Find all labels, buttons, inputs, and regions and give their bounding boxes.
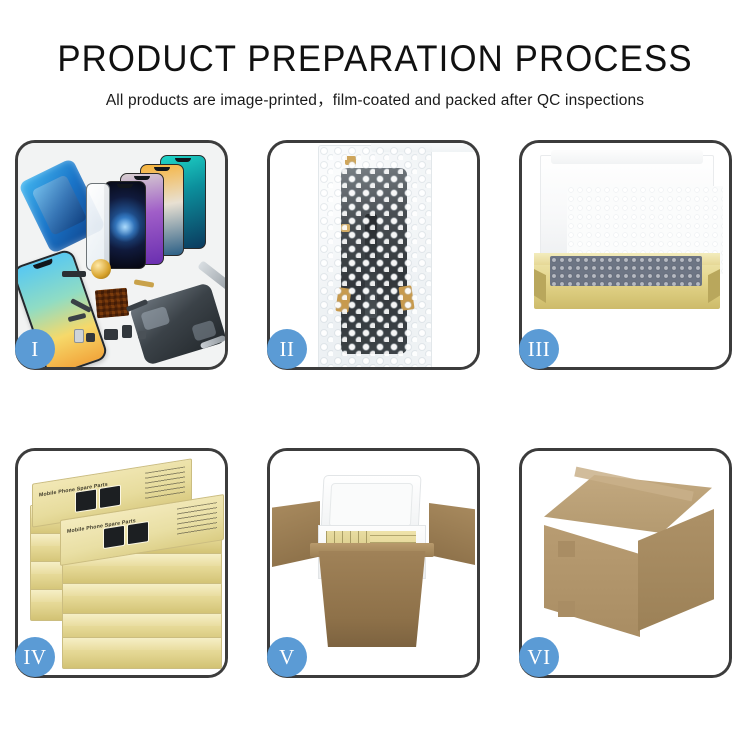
box-window-icon (99, 485, 121, 509)
box-label-text: Mobile Phone Spare Parts (39, 482, 108, 499)
step-image-2 (270, 143, 477, 367)
box-window-icon (127, 521, 149, 545)
carton-tab-icon (558, 601, 575, 617)
notch-icon (154, 167, 170, 171)
product-preparation-infographic: PRODUCT PREPARATION PROCESS All products… (0, 0, 750, 750)
page-title: PRODUCT PREPARATION PROCESS (23, 38, 728, 80)
screen-protector-icon (86, 183, 110, 271)
step-panel-2: II (267, 140, 480, 370)
step-image-5 (270, 451, 477, 675)
yellow-box-tray-icon (534, 261, 720, 309)
step-badge-3: III (519, 329, 559, 369)
step-badge-6: VI (519, 637, 559, 677)
bubble-texture-icon (319, 146, 431, 367)
box-lid-edge-icon (63, 614, 221, 626)
small-part-icon (104, 329, 118, 340)
step-panel-1: I (15, 140, 228, 370)
wallpaper-swirl-icon (110, 212, 140, 242)
box-side-left-icon (534, 269, 546, 303)
notch-icon (175, 158, 191, 162)
step-image-4: Mobile Phone Spare Parts Mobile Phone Sp… (18, 451, 225, 675)
box-spec-lines-icon (177, 502, 217, 536)
phone-lineup-graphic (100, 155, 225, 267)
carton-flap-right-icon (429, 503, 475, 565)
process-steps-grid: I II (15, 140, 735, 678)
bubble-packed-contents-icon (550, 256, 702, 286)
step-panel-5: V (267, 448, 480, 678)
step-badge-2: II (267, 329, 307, 369)
notch-icon (117, 184, 133, 188)
step-panel-6: VI (519, 448, 732, 678)
box-window-icon (103, 525, 125, 549)
step-badge-5: V (267, 637, 307, 677)
box-lid-edge-icon (63, 584, 221, 596)
step-image-3 (522, 143, 729, 367)
small-part-icon (138, 331, 146, 339)
step-image-1 (18, 143, 225, 367)
chip-grid-icon (95, 288, 129, 319)
notch-icon (134, 176, 150, 180)
page-subtitle: All products are image-printed，film-coat… (0, 91, 750, 111)
box-spec-lines-icon (145, 466, 185, 500)
box-stack-graphic: Mobile Phone Spare Parts Mobile Phone Sp… (30, 465, 220, 667)
earpiece-speaker-icon (62, 271, 86, 277)
step-panel-4: Mobile Phone Spare Parts Mobile Phone Sp… (15, 448, 228, 678)
step-badge-1: I (15, 329, 55, 369)
box-label-text: Mobile Phone Spare Parts (67, 518, 136, 535)
step-panel-3: III (519, 140, 732, 370)
notch-icon (33, 259, 54, 270)
box-side-right-icon (708, 269, 720, 303)
step-image-6 (522, 451, 729, 675)
stacked-box (62, 637, 222, 669)
vibration-motor-icon (91, 259, 111, 279)
sim-tray-icon (74, 329, 84, 343)
carton-tab-icon (558, 541, 575, 557)
step-badge-4: IV (15, 637, 55, 677)
stacked-box (62, 583, 222, 615)
small-part-icon (122, 325, 132, 338)
box-lid-icon (540, 155, 714, 269)
box-lid-edge-icon (63, 638, 221, 650)
box-window-icon (75, 488, 97, 512)
header: PRODUCT PREPARATION PROCESS All products… (0, 0, 750, 111)
small-part-icon (86, 333, 95, 342)
flex-cable-gold-icon (134, 279, 155, 287)
bubble-wrap-bag-icon (318, 145, 432, 367)
carton-body-icon (314, 551, 430, 647)
phone-back-shell-icon (129, 282, 225, 366)
carton-flap-left-icon (272, 501, 320, 567)
phone-dark-blue-icon (104, 181, 146, 269)
